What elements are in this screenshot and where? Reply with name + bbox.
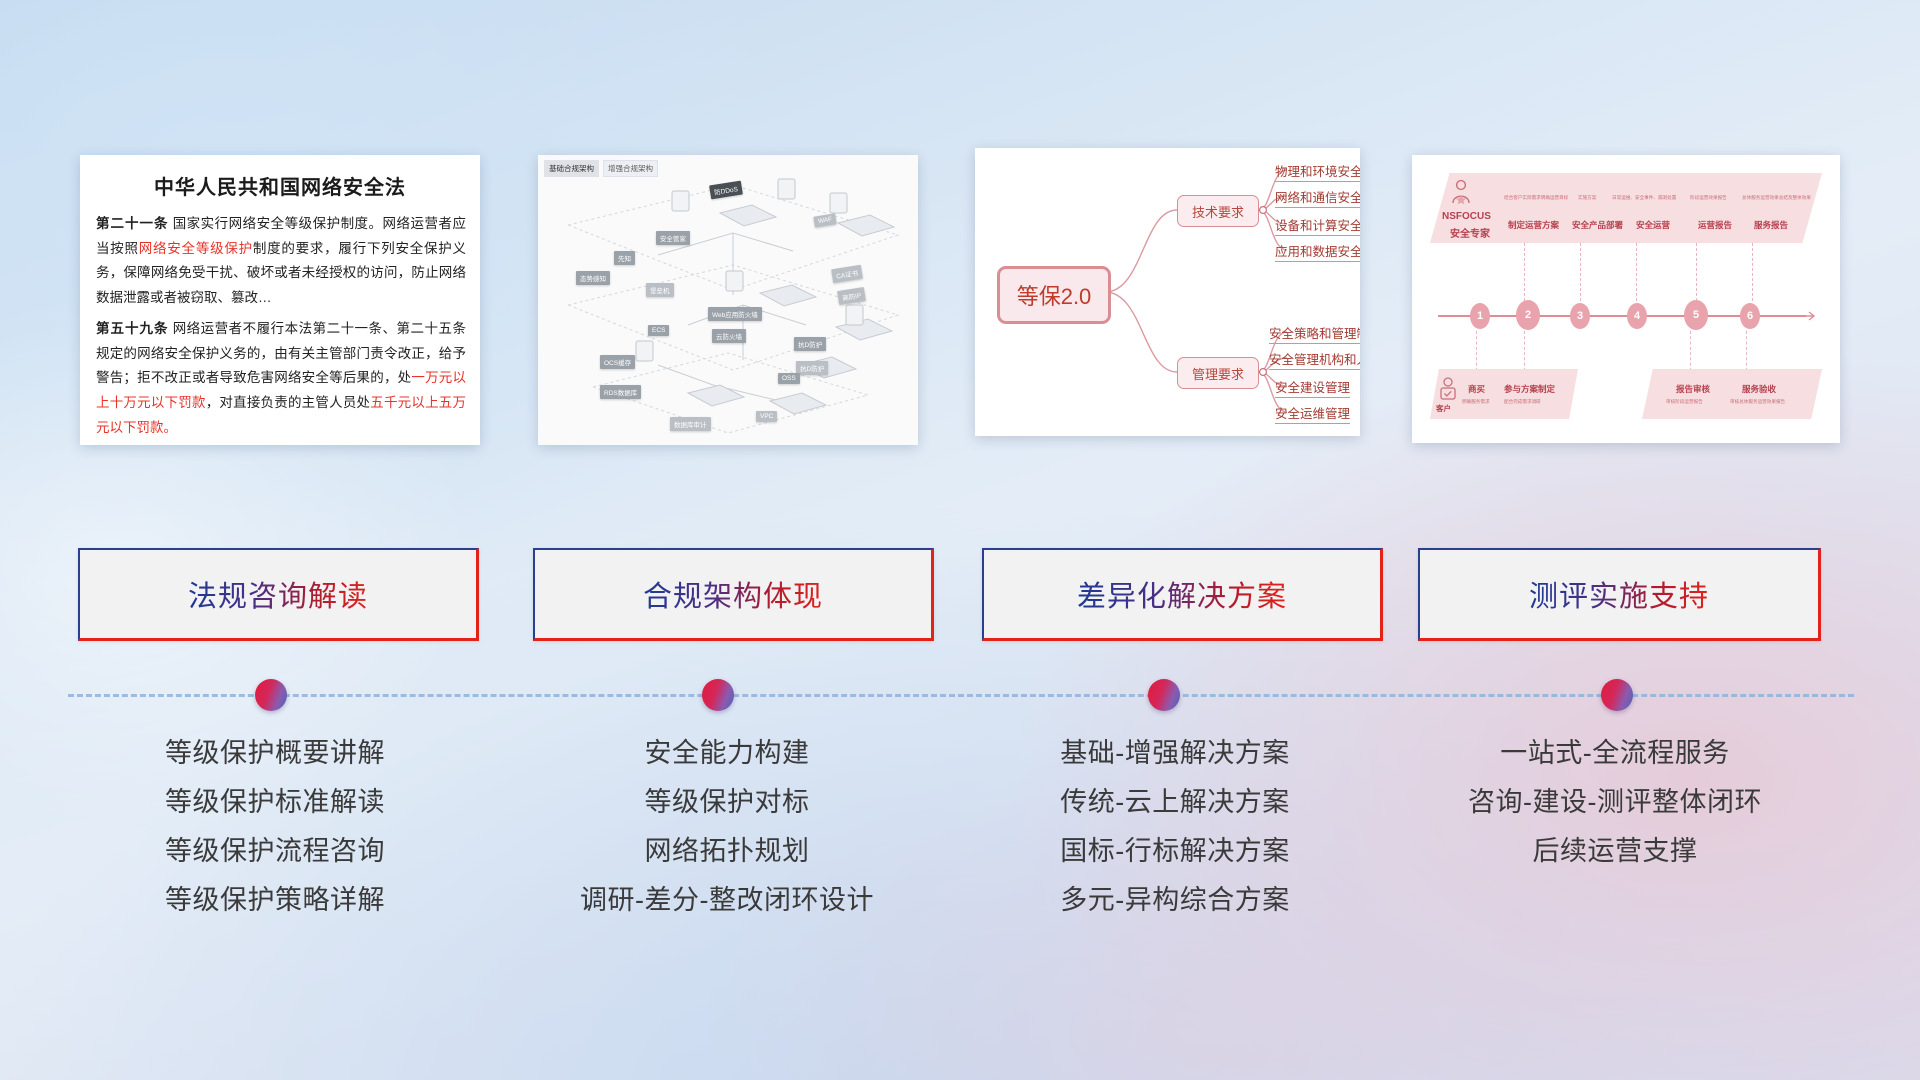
section-items-3: 基础-增强解决方案 传统-云上解决方案 国标-行标解决方案 多元-异构综合方案 bbox=[960, 740, 1390, 936]
list-item: 后续运营支撑 bbox=[1400, 838, 1830, 865]
list-item: 多元-异构综合方案 bbox=[960, 887, 1390, 914]
timeline-marker-2[interactable] bbox=[702, 679, 734, 711]
list-item: 等级保护标准解读 bbox=[60, 789, 490, 816]
architecture-tabs[interactable]: 基础合规架构 增强合规架构 bbox=[544, 160, 658, 177]
list-item: 调研-差分-整改闭环设计 bbox=[512, 887, 942, 914]
section-title-label-3: 差异化解决方案 bbox=[1077, 573, 1287, 615]
timeline-marker-1[interactable] bbox=[255, 679, 287, 711]
list-item: 基础-增强解决方案 bbox=[960, 740, 1390, 767]
list-item: 传统-云上解决方案 bbox=[960, 789, 1390, 816]
list-item: 咨询-建设-测评整体闭环 bbox=[1400, 789, 1830, 816]
arch-tab-enhanced[interactable]: 增强合规架构 bbox=[603, 160, 658, 177]
section-title-label-2: 合规架构体现 bbox=[643, 573, 823, 615]
timeline-marker-4[interactable] bbox=[1601, 679, 1633, 711]
section-title-box-4[interactable]: 测评实施支持 bbox=[1418, 548, 1821, 641]
timeline-marker-3[interactable] bbox=[1148, 679, 1180, 711]
list-item: 国标-行标解决方案 bbox=[960, 838, 1390, 865]
section-title-label-4: 测评实施支持 bbox=[1529, 573, 1709, 615]
section-title-box-1[interactable]: 法规咨询解读 bbox=[78, 548, 479, 641]
list-item: 等级保护策略详解 bbox=[60, 887, 490, 914]
section-title-label-1: 法规咨询解读 bbox=[188, 573, 368, 615]
list-item: 等级保护对标 bbox=[512, 789, 942, 816]
list-item: 安全能力构建 bbox=[512, 740, 942, 767]
section-items-4: 一站式-全流程服务 咨询-建设-测评整体闭环 后续运营支撑 bbox=[1400, 740, 1830, 887]
section-items-1: 等级保护概要讲解 等级保护标准解读 等级保护流程咨询 等级保护策略详解 bbox=[60, 740, 490, 936]
section-title-box-2[interactable]: 合规架构体现 bbox=[533, 548, 934, 641]
arch-tab-basic[interactable]: 基础合规架构 bbox=[544, 160, 599, 177]
section-items-2: 安全能力构建 等级保护对标 网络拓扑规划 调研-差分-整改闭环设计 bbox=[512, 740, 942, 936]
list-item: 等级保护概要讲解 bbox=[60, 740, 490, 767]
list-item: 等级保护流程咨询 bbox=[60, 838, 490, 865]
section-title-box-3[interactable]: 差异化解决方案 bbox=[982, 548, 1383, 641]
list-item: 一站式-全流程服务 bbox=[1400, 740, 1830, 767]
timeline-dashed-line bbox=[68, 694, 1854, 697]
slide-stage: 中华人民共和国网络安全法 第二十一条 国家实行网络安全等级保护制度。网络运营者应… bbox=[0, 0, 1920, 1080]
list-item: 网络拓扑规划 bbox=[512, 838, 942, 865]
